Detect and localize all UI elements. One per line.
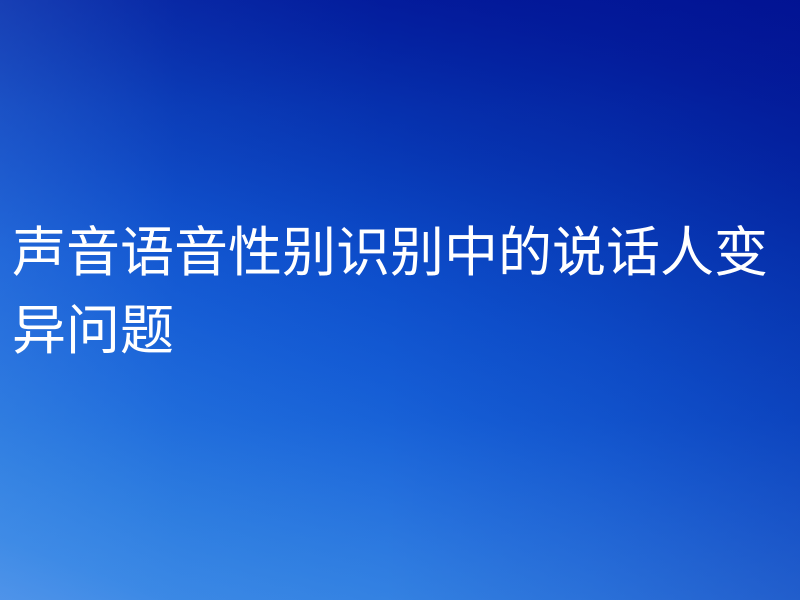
slide-content: 声音语音性别识别中的说话人变异问题 <box>0 0 800 600</box>
slide-title: 声音语音性别识别中的说话人变异问题 <box>12 214 792 370</box>
title-slide: 声音语音性别识别中的说话人变异问题 <box>0 0 800 600</box>
